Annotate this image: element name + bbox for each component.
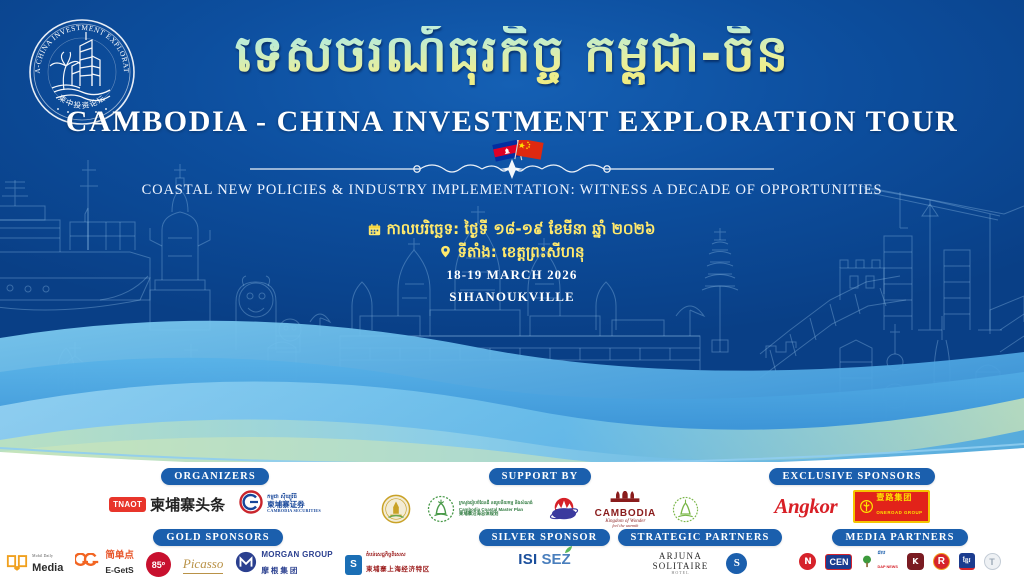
location-pin-icon (439, 245, 452, 258)
sponsor-label-support: SUPPORT BY (489, 468, 592, 485)
sponsor-section-support: SUPPORT BY (370, 466, 710, 529)
e-gets-wordmark: E-GetS (105, 565, 133, 575)
sponsor-section-gold: GOLD SPONSORS Mobil Daily Media (8, 527, 428, 578)
sovannaphum-logo[interactable]: S (726, 553, 747, 574)
arjuna-wordmark: ARJUNA (653, 551, 709, 561)
angkor-wordmark: Angkor (774, 494, 837, 519)
sponsor-label-media: MEDIA PARTNERS (832, 529, 967, 546)
coastal-plan-khmer: ក្រសួងរៀបចំដែនដី នគរូបនីយកម្ម និងសំណង់ (459, 501, 533, 506)
pavilion-logo[interactable] (549, 496, 579, 522)
mobile-daily-media-logo[interactable]: Mobil Daily Media (6, 554, 63, 576)
picasso-wordmark: Picasso (183, 556, 223, 574)
pavilion-mark (549, 496, 579, 522)
nice-tv-logo[interactable]: N (799, 553, 816, 570)
sponsor-label-gold: GOLD SPONSORS (153, 529, 282, 546)
dap-english: DAP NEWS (877, 565, 897, 569)
thmey-mark: T (984, 553, 1001, 570)
ornamental-divider (0, 157, 1024, 179)
angkor-beer-logo[interactable]: Angkor (774, 494, 837, 519)
calendar-icon (368, 223, 381, 236)
sovannaphum-mark: S (726, 553, 747, 574)
morgan-mark (235, 551, 257, 578)
coastal-plan-chinese: 柬埔寨沿海总体规划 (459, 512, 533, 517)
book-icon (6, 554, 28, 576)
cambodia-wordmark: CAMBODIA (595, 508, 656, 519)
sez-chinese: 柬埔寨上海经济特区 (366, 565, 430, 573)
sponsor-section-organizers: ORGANIZERS TNAOT 柬埔寨头条 កម្ពុជា (95, 466, 335, 519)
morgan-group-logo[interactable]: MORGAN GROUP 摩根集团 (235, 551, 333, 578)
tree-icon (861, 555, 873, 568)
sponsor-band: ORGANIZERS TNAOT 柬埔寨头条 កម្ពុជា (0, 462, 1024, 585)
event-poster: CAMBODIA-CHINA INVESTMENT EXPLORATION TO… (0, 0, 1024, 585)
hero-banner: CAMBODIA-CHINA INVESTMENT EXPLORATION TO… (0, 0, 1024, 468)
oneroad-english: ONEROAD GROUP (876, 510, 922, 515)
rasmei-mark: R (933, 553, 950, 570)
cen-news-logo[interactable]: CEN (825, 554, 852, 570)
cambodia-kingdom-of-wonder-logo[interactable]: CAMBODIA Kingdom of Wonder feel the warm… (595, 490, 656, 529)
daily-news-logo[interactable]: ដាប DAP NEWS (861, 551, 897, 572)
oneroad-mark (860, 500, 873, 513)
oneroad-group-logo[interactable]: 壹路集团 ONEROAD GROUP (853, 490, 929, 523)
sponsor-logos-media: N CEN ដាប DAP NEWS K (790, 551, 1010, 572)
khmer-post-logo[interactable]: K (907, 553, 924, 570)
sponsor-logos-support: ក្រសួងរៀបចំដែនដី នគរូបនីយកម្ម និងសំណង់ C… (370, 490, 710, 529)
sponsor-label-strategic: STRATEGIC PARTNERS (618, 529, 783, 546)
angkor-temple-icon (607, 491, 643, 503)
page-title-khmer: ទេសចរណ៍ធុរកិច្ច កម្ពុជា-ចិន (0, 26, 1024, 85)
sponsor-label-organizers: ORGANIZERS (161, 468, 269, 485)
85c-mark: 85º (146, 552, 171, 577)
cambodia-securities-logo[interactable]: កម្ពុជា ស៊ីឃ្យួរឹធី 柬埔寨证券 CAMBODIA SECUR… (239, 490, 321, 519)
sez-mark: S (345, 555, 362, 575)
sponsor-logos-organizers: TNAOT 柬埔寨头条 កម្ពុជា ស៊ីឃ្យួរឹធី 柬埔寨证券 (95, 490, 335, 519)
cambodia-securities-english: CAMBODIA SECURITIES (267, 509, 321, 514)
cambodia-coastal-master-plan-logo[interactable]: ក្រសួងរៀបចំដែនដី នគរូបនីយកម្ម និងសំណង់ C… (427, 495, 533, 523)
ministry-agriculture-logo[interactable] (672, 496, 699, 523)
sponsor-label-silver: SILVER SPONSOR (479, 529, 611, 546)
arjuna-solitaire-logo[interactable]: ARJUNA SOLITAIRE HOTEL (653, 551, 709, 576)
morgan-wordmark: MORGAN GROUP (261, 551, 333, 560)
event-venue-line: ទីតាំង: ខេត្តព្រះសីហនុ (0, 241, 1024, 264)
arjuna-subtitle: HOTEL (653, 571, 709, 576)
rasmei-kampuchea-logo[interactable]: R (933, 553, 950, 570)
khmer-times-logo[interactable]: ខ្មែរ (959, 553, 975, 570)
sponsor-logos-strategic: ARJUNA SOLITAIRE HOTEL S (600, 551, 800, 576)
tnaot-chinese-name: 柬埔寨头条 (150, 494, 225, 515)
leaf-icon (564, 545, 573, 554)
cen-mark: CEN (825, 554, 852, 570)
sez-wordmark: SEZ (542, 551, 571, 568)
isi-wordmark: ISI (518, 551, 537, 568)
sponsor-section-media: MEDIA PARTNERS N CEN ដាប DAP NEWS (790, 527, 1010, 572)
event-date-line: កាលបរិច្ឆេទ: ថ្ងៃទី ១៨-១៩ ខែមីនា ឆ្នាំ ២… (0, 218, 1024, 241)
sponsor-logos-gold: Mobil Daily Media 简单点 E-GetS (8, 551, 428, 578)
e-gets-mark (75, 553, 101, 576)
coastal-plan-mark (427, 495, 455, 523)
event-venue-khmer: ទីតាំង: ខេត្តព្រះសីហនុ (457, 241, 584, 264)
dap-khmer: ដាប (877, 551, 897, 556)
event-date-english: 18-19 MARCH 2026 (0, 266, 1024, 285)
thmey-thmey-logo[interactable]: T (984, 553, 1001, 570)
khmer-times-mark: ខ្មែរ (959, 553, 975, 570)
e-gets-chinese: 简单点 (105, 551, 134, 561)
media-wordmark: Media (32, 562, 63, 574)
royal-seal-mark (381, 494, 411, 524)
sponsor-section-strategic: STRATEGIC PARTNERS ARJUNA SOLITAIRE HOTE… (600, 527, 800, 576)
event-tagline: COASTAL NEW POLICIES & INDUSTRY IMPLEMEN… (0, 182, 1024, 199)
page-title-english: CAMBODIA - CHINA INVESTMENT EXPLORATION … (0, 105, 1024, 139)
event-meta: កាលបរិច្ឆេទ: ថ្ងៃទី ១៨-១៩ ខែមីនា ឆ្នាំ ២… (0, 218, 1024, 307)
sponsor-section-exclusive: EXCLUSIVE SPONSORS Angkor 壹路集团 ONEROAD G… (752, 466, 952, 523)
85c-bakery-logo[interactable]: 85º (146, 552, 171, 577)
nice-tv-mark: N (799, 553, 816, 570)
agriculture-mark (672, 496, 699, 523)
sez-khmer: តំបន់សេដ្ឋកិច្ចពិសេស (366, 553, 430, 559)
event-venue-english: SIHANOUKVILLE (0, 288, 1024, 307)
khmer-post-mark: K (907, 553, 924, 570)
mobile-daily-tagline: Mobil Daily (32, 554, 63, 558)
morgan-chinese: 摩根集团 (261, 566, 299, 575)
picasso-logo[interactable]: Picasso (183, 556, 223, 574)
sponsor-label-exclusive: EXCLUSIVE SPONSORS (769, 468, 934, 485)
isi-sez-logo[interactable]: ISI SEZ (518, 551, 570, 568)
royal-government-seal-logo[interactable] (381, 494, 411, 524)
sponsor-logos-exclusive: Angkor 壹路集团 ONEROAD GROUP (752, 490, 952, 523)
e-gets-logo[interactable]: 简单点 E-GetS (75, 551, 134, 578)
cambodia-securities-mark (239, 490, 263, 519)
event-date-khmer: កាលបរិច្ឆេទ: ថ្ងៃទី ១៨-១៩ ខែមីនា ឆ្នាំ ២… (386, 218, 655, 241)
tnaot-logo[interactable]: TNAOT 柬埔寨头条 (109, 494, 225, 515)
tnaot-mark: TNAOT (109, 497, 146, 512)
cambodia-shanghai-sez-logo[interactable]: S តំបន់សេដ្ឋកិច្ចពិសេស 柬埔寨上海经济特区 (345, 553, 430, 576)
oneroad-chinese: 壹路集团 (876, 494, 922, 502)
